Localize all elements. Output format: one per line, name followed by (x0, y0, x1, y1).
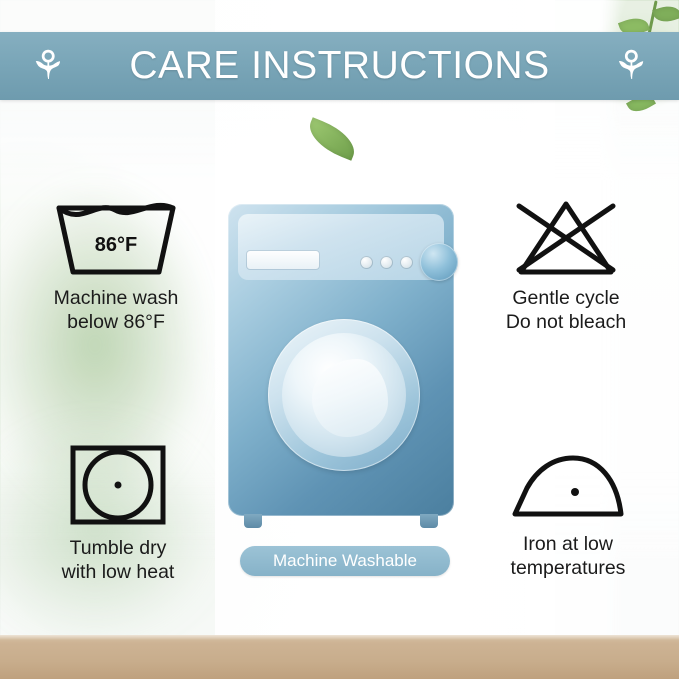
fleur-de-lis-icon-right: ⚘ (613, 46, 649, 86)
washer-control-panel (238, 214, 444, 280)
indicator-light-3-icon (400, 256, 413, 269)
care-item-machine-wash: 86°F Machine wash below 86°F (16, 196, 216, 334)
care-instructions-card: ⚘ CARE INSTRUCTIONS ⚘ Machine Washable 8… (0, 0, 679, 679)
washer-foot-left (244, 514, 262, 528)
page-title: CARE INSTRUCTIONS (129, 44, 549, 88)
fleur-de-lis-icon-left: ⚘ (30, 46, 66, 86)
header-banner: ⚘ CARE INSTRUCTIONS ⚘ (0, 32, 679, 100)
wash-temp-text: 86°F (95, 234, 137, 256)
no-bleach-triangle-icon (466, 196, 666, 280)
care-item-caption: Tumble dry with low heat (20, 536, 216, 584)
washing-machine-illustration (228, 204, 454, 534)
care-item-caption: Iron at low temperatures (470, 532, 666, 580)
status-badge: Machine Washable (240, 546, 450, 576)
care-item-caption: Gentle cycle Do not bleach (466, 286, 666, 334)
washer-door (268, 319, 420, 471)
tumble-dry-low-icon (20, 440, 216, 530)
program-dial-icon (420, 243, 458, 281)
care-item-caption: Machine wash below 86°F (16, 286, 216, 334)
detergent-drawer (246, 250, 320, 270)
wash-tub-icon: 86°F (16, 196, 216, 280)
care-item-no-bleach: Gentle cycle Do not bleach (466, 196, 666, 334)
care-item-iron-low: Iron at low temperatures (470, 440, 666, 580)
washer-door-glass (282, 333, 406, 457)
care-item-tumble-dry: Tumble dry with low heat (20, 440, 216, 584)
status-badge-label: Machine Washable (273, 551, 417, 571)
iron-low-temp-icon (470, 440, 666, 526)
washer-foot-right (420, 514, 438, 528)
indicator-light-1-icon (360, 256, 373, 269)
table-surface (0, 635, 679, 679)
washer-door-highlight (312, 359, 388, 437)
indicator-light-2-icon (380, 256, 393, 269)
